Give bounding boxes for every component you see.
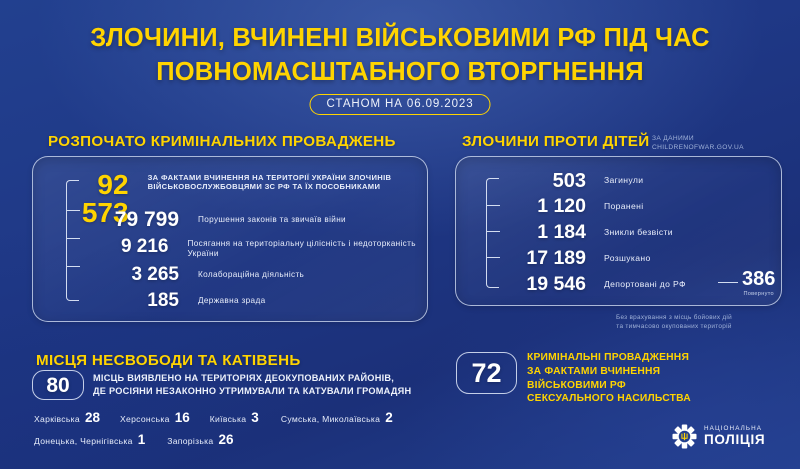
stat-label: Порушення законів та звичаїв війни (185, 209, 346, 225)
returned-children-callout: 386 Повернуто (718, 269, 775, 297)
stat-value: 9 216 (58, 237, 174, 256)
sexual-violence-count-badge: 72 (456, 352, 517, 394)
region-item: Херсонська 16 (120, 410, 190, 425)
source-line-1: ЗА ДАНИМИ (652, 135, 744, 144)
sexual-violence-description: КРИМІНАЛЬНІ ПРОВАДЖЕННЯ ЗА ФАКТАМИ ВЧИНЕ… (527, 351, 691, 406)
date-badge: СТАНОМ НА 06.09.2023 (310, 94, 491, 115)
logo-line-2: ПОЛІЦІЯ (704, 433, 765, 447)
section-heading-criminal-proceedings: РОЗПОЧАТО КРИМІНАЛЬНИХ ПРОВАДЖЕНЬ (48, 133, 396, 150)
stat-label: Депортовані до РФ (590, 275, 686, 289)
stat-row: 1 120 Поранені (478, 197, 644, 217)
region-value: 1 (138, 432, 146, 447)
region-item: Запорізька 26 (167, 432, 233, 447)
title-line-1: ЗЛОЧИНИ, ВЧИНЕНІ ВІЙСЬКОВИМИ РФ ПІД ЧАС (0, 22, 800, 56)
criminal-proceedings-panel: 92 573 ЗА ФАКТАМИ ВЧИНЕННЯ НА ТЕРИТОРІЇ … (32, 156, 428, 322)
region-value: 16 (175, 410, 190, 425)
places-description: МІСЦЬ ВИЯВЛЕНО НА ТЕРИТОРІЯХ ДЕОКУПОВАНИ… (93, 372, 411, 399)
stat-row: 79 799 Порушення законів та звичаїв війн… (58, 209, 346, 230)
stat-row: 17 189 Розшукано (478, 249, 651, 269)
region-name: Херсонська (120, 414, 170, 424)
stat-label: Посягання на територіальну цілісність і … (174, 237, 427, 259)
places-line-2: ДЕ РОСІЯНИ НЕЗАКОННО УТРИМУВАЛИ ТА КАТУВ… (93, 385, 411, 398)
stat-row: 1 184 Зникли безвісти (478, 223, 673, 243)
region-name: Київська (210, 414, 247, 424)
footnote-line-2: та тимчасово окупованих територій (566, 322, 782, 331)
regions-row: Донецька, Чернігівська 1 Запорізька 26 (34, 432, 454, 447)
region-value: 26 (218, 432, 233, 447)
national-police-logo: НАЦІОНАЛЬНА ПОЛІЦІЯ (672, 424, 765, 449)
region-item: Донецька, Чернігівська 1 (34, 432, 145, 447)
region-item: Сумська, Миколаївська 2 (281, 410, 393, 425)
stat-label: Поранені (590, 197, 644, 211)
stat-row: 185 Державна зрада (58, 291, 265, 310)
regions-row: Харківська 28 Херсонська 16 Київська 3 С… (34, 410, 454, 425)
stat-label: Державна зрада (185, 291, 265, 306)
stat-value: 17 189 (478, 249, 590, 269)
region-name: Донецька, Чернігівська (34, 436, 133, 446)
connector-dash (718, 282, 738, 283)
places-count-badge: 80 (32, 370, 84, 400)
footnote-line-1: Без врахування з місць бойових дій (566, 313, 782, 322)
places-line-1: МІСЦЬ ВИЯВЛЕНО НА ТЕРИТОРІЯХ ДЕОКУПОВАНИ… (93, 372, 411, 385)
police-star-emblem-icon (672, 424, 697, 449)
region-name: Запорізька (167, 436, 213, 446)
region-item: Київська 3 (210, 410, 259, 425)
stat-value: 79 799 (58, 209, 185, 230)
stat-value: 1 184 (478, 223, 590, 243)
region-item: Харківська 28 (34, 410, 100, 425)
source-attribution: ЗА ДАНИМИ CHILDRENOFWAR.GOV.UA (652, 135, 744, 153)
region-name: Сумська, Миколаївська (281, 414, 380, 424)
returned-caption: Повернуто (742, 291, 775, 297)
stat-value: 19 546 (478, 275, 590, 295)
children-footnote: Без врахування з місць бойових дій та ти… (566, 313, 782, 332)
regions-breakdown: Харківська 28 Херсонська 16 Київська 3 С… (34, 410, 454, 454)
crimes-against-children-panel: 503 Загинули 1 120 Поранені 1 184 Зникли… (455, 156, 782, 306)
stat-label: ЗА ФАКТАМИ ВЧИНЕННЯ НА ТЕРИТОРІЇ УКРАЇНИ… (135, 171, 427, 192)
stat-row: 503 Загинули (478, 171, 643, 191)
returned-value: 386 (742, 269, 775, 289)
region-value: 2 (385, 410, 393, 425)
stat-value: 3 265 (58, 265, 185, 284)
section-heading-places-of-detention: МІСЦЯ НЕСВОБОДИ ТА КАТІВЕНЬ (36, 352, 301, 369)
stat-label: Зникли безвісти (590, 223, 673, 237)
stat-row: 9 216 Посягання на територіальну цілісні… (58, 237, 427, 259)
stat-label: Колабораційна діяльність (185, 265, 304, 280)
section-heading-crimes-against-children: ЗЛОЧИНИ ПРОТИ ДІТЕЙ (462, 133, 649, 150)
title-line-2: ПОВНОМАСШТАБНОГО ВТОРГНЕННЯ (0, 56, 800, 90)
stat-label: Розшукано (590, 249, 651, 263)
page-title: ЗЛОЧИНИ, ВЧИНЕНІ ВІЙСЬКОВИМИ РФ ПІД ЧАС … (0, 22, 800, 90)
region-value: 3 (251, 410, 259, 425)
logo-text: НАЦІОНАЛЬНА ПОЛІЦІЯ (704, 426, 765, 447)
stat-row: 19 546 Депортовані до РФ (478, 275, 686, 295)
region-value: 28 (85, 410, 100, 425)
stat-row: 3 265 Колабораційна діяльність (58, 265, 304, 284)
region-name: Харківська (34, 414, 80, 424)
infographic-canvas: ЗЛОЧИНИ, ВЧИНЕНІ ВІЙСЬКОВИМИ РФ ПІД ЧАС … (0, 0, 800, 469)
source-line-2: CHILDRENOFWAR.GOV.UA (652, 144, 744, 153)
sv-line-1: КРИМІНАЛЬНІ ПРОВАДЖЕННЯ (527, 351, 691, 365)
stat-value: 503 (478, 171, 590, 191)
stat-label: Загинули (590, 171, 643, 185)
sv-line-3: ВІЙСЬКОВИМИ РФ (527, 379, 691, 393)
stat-value: 185 (58, 291, 185, 310)
stat-value: 1 120 (478, 197, 590, 217)
sv-line-4: СЕКСУАЛЬНОГО НАСИЛЬСТВА (527, 392, 691, 406)
sv-line-2: ЗА ФАКТАМИ ВЧИНЕННЯ (527, 365, 691, 379)
